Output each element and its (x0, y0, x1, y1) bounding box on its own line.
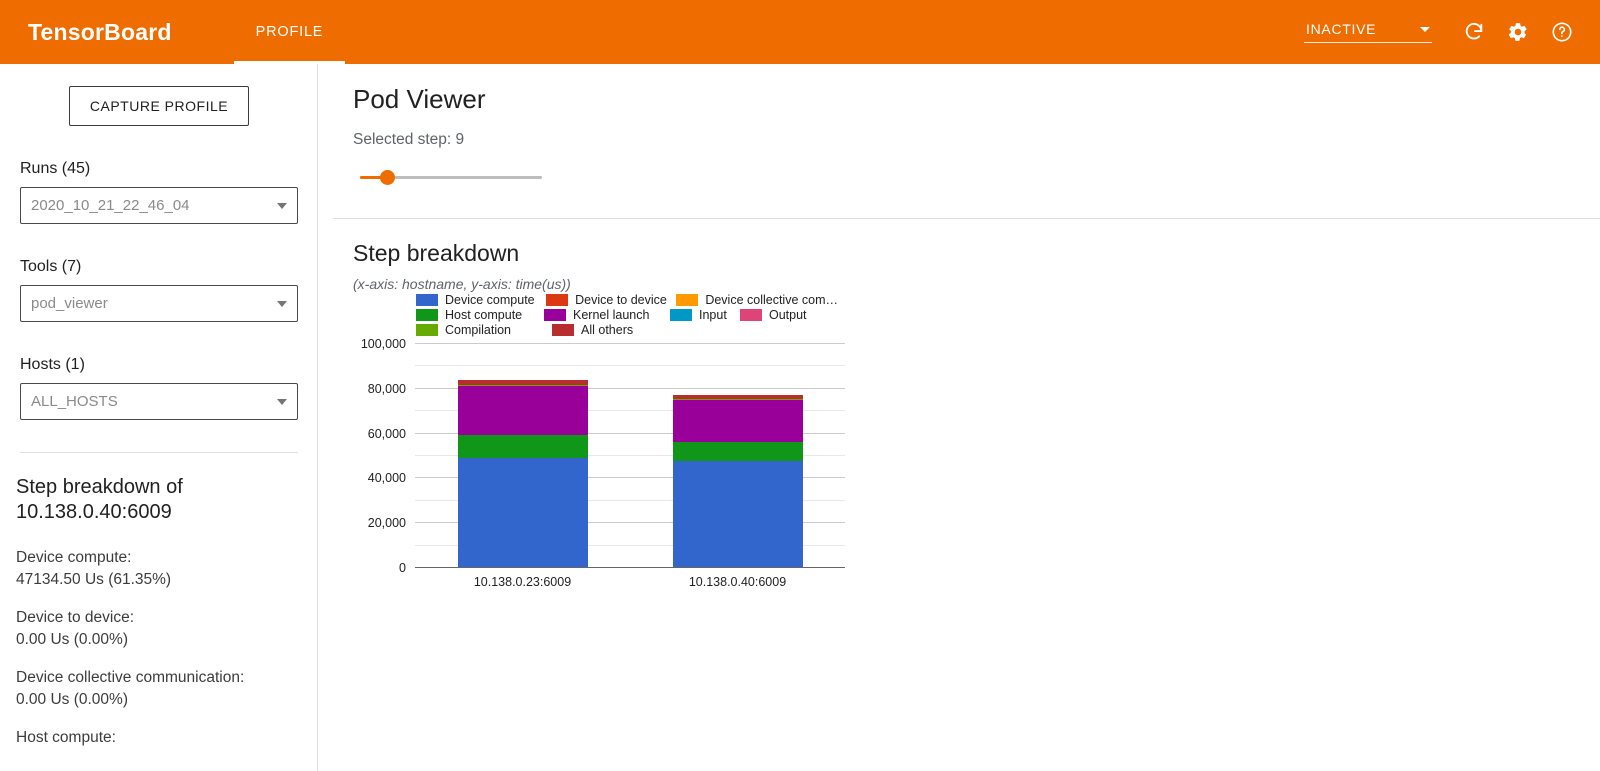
x-axis-line (415, 567, 845, 568)
legend-item[interactable]: Output (740, 308, 807, 322)
chart-bar[interactable] (458, 380, 588, 567)
gridline-minor (415, 365, 845, 366)
y-axis-tick-label: 0 (399, 561, 406, 575)
legend-label: All others (581, 323, 633, 337)
bar-segment[interactable] (458, 458, 588, 567)
step-breakdown-chart: Device computeDevice to deviceDevice col… (353, 292, 1053, 592)
chevron-down-icon (1420, 27, 1430, 32)
legend-swatch (416, 294, 438, 306)
legend-swatch (740, 309, 762, 321)
app-bar-actions: INACTIVE (1304, 12, 1582, 52)
x-axis-tick-label: 10.138.0.40:6009 (689, 575, 786, 589)
bar-segment[interactable] (458, 435, 588, 458)
help-button[interactable] (1542, 12, 1582, 52)
tools-label: Tools (7) (20, 258, 298, 276)
chart-title: Step breakdown (353, 240, 1600, 267)
reload-button[interactable] (1454, 12, 1494, 52)
legend-row: Device computeDevice to deviceDevice col… (416, 292, 846, 307)
runs-selected-value: 2020_10_21_22_46_04 (31, 197, 277, 214)
legend-swatch (544, 309, 566, 321)
hosts-selected-value: ALL_HOSTS (31, 393, 277, 410)
gear-icon (1507, 21, 1529, 43)
tab-profile-label: PROFILE (256, 24, 324, 40)
page-title: Pod Viewer (353, 84, 1600, 115)
hosts-select[interactable]: ALL_HOSTS (20, 383, 298, 420)
step-slider[interactable] (360, 167, 542, 187)
legend-label: Device collective com… (705, 293, 838, 307)
legend-swatch (670, 309, 692, 321)
legend-item[interactable]: Device compute (416, 293, 538, 307)
detail-row: Device collective communication: 0.00 Us… (16, 667, 302, 711)
app-logo: TensorBoard (28, 19, 172, 46)
sidebar: CAPTURE PROFILE Runs (45) 2020_10_21_22_… (0, 64, 318, 771)
legend-label: Compilation (445, 323, 511, 337)
runs-label: Runs (45) (20, 160, 298, 178)
detail-key: Host compute: (16, 727, 302, 749)
main-content: Pod Viewer Selected step: 9 Step breakdo… (333, 64, 1600, 771)
detail-key: Device collective communication: (16, 667, 302, 689)
selected-step-label: Selected step: 9 (353, 131, 1600, 149)
legend-swatch (552, 324, 574, 336)
y-axis-tick-label: 40,000 (368, 471, 406, 485)
y-axis-tick-label: 80,000 (368, 382, 406, 396)
legend-swatch (546, 294, 568, 306)
bar-segment[interactable] (673, 442, 803, 461)
tab-profile[interactable]: PROFILE (234, 0, 346, 64)
legend-item[interactable]: Input (670, 308, 732, 322)
chart-bar[interactable] (673, 395, 803, 567)
chevron-down-icon (277, 301, 287, 307)
legend-label: Device to device (575, 293, 667, 307)
legend-item[interactable]: Kernel launch (544, 308, 662, 322)
chevron-down-icon (277, 399, 287, 405)
step-breakdown-details: Step breakdown of 10.138.0.40:6009 Devic… (0, 453, 318, 749)
chart-subtitle: (x-axis: hostname, y-axis: time(us)) (353, 276, 1600, 292)
bar-segment[interactable] (673, 461, 803, 567)
detail-key: Device to device: (16, 607, 302, 629)
legend-item[interactable]: Device collective com… (676, 293, 838, 307)
legend-item[interactable]: Compilation (416, 323, 544, 337)
detail-value: 0.00 Us (0.00%) (16, 689, 302, 711)
content-divider (333, 218, 1600, 219)
hosts-label: Hosts (1) (20, 356, 298, 374)
reload-icon (1463, 21, 1485, 43)
nav-tabs: PROFILE (234, 0, 346, 64)
legend-label: Host compute (445, 308, 522, 322)
tools-select[interactable]: pod_viewer (20, 285, 298, 322)
legend-row: CompilationAll others (416, 322, 846, 337)
detail-value: 47134.50 Us (61.35%) (16, 569, 302, 591)
chart-legend: Device computeDevice to deviceDevice col… (416, 292, 846, 337)
legend-swatch (416, 324, 438, 336)
detail-row: Device compute: 47134.50 Us (61.35%) (16, 547, 302, 591)
y-axis-tick-label: 100,000 (361, 337, 406, 351)
app-bar: TensorBoard PROFILE INACTIVE (0, 0, 1600, 64)
chevron-down-icon (277, 203, 287, 209)
legend-swatch (416, 309, 438, 321)
x-axis-tick-label: 10.138.0.23:6009 (474, 575, 571, 589)
help-icon (1551, 21, 1573, 43)
detail-key: Device compute: (16, 547, 302, 569)
detail-row: Host compute: (16, 727, 302, 749)
legend-item[interactable]: Host compute (416, 308, 536, 322)
gridline-major (415, 343, 845, 344)
legend-item[interactable]: All others (552, 323, 633, 337)
bar-segment[interactable] (673, 400, 803, 442)
y-axis-tick-label: 20,000 (368, 516, 406, 530)
legend-label: Device compute (445, 293, 535, 307)
legend-row: Host computeKernel launchInputOutput (416, 307, 846, 322)
legend-item[interactable]: Device to device (546, 293, 668, 307)
status-dropdown[interactable]: INACTIVE (1304, 21, 1432, 43)
legend-label: Kernel launch (573, 308, 649, 322)
y-axis-tick-label: 60,000 (368, 427, 406, 441)
capture-profile-button[interactable]: CAPTURE PROFILE (69, 86, 249, 126)
legend-label: Output (769, 308, 807, 322)
slider-thumb[interactable] (380, 170, 395, 185)
legend-swatch (676, 294, 698, 306)
status-value: INACTIVE (1306, 21, 1408, 37)
legend-label: Input (699, 308, 727, 322)
bar-segment[interactable] (458, 386, 588, 435)
details-title: Step breakdown of 10.138.0.40:6009 (16, 475, 266, 525)
detail-value: 0.00 Us (0.00%) (16, 629, 302, 651)
sidebar-edge (317, 64, 318, 771)
chart-plot-area: 020,00040,00060,00080,000100,00010.138.0… (415, 343, 845, 568)
tools-selected-value: pod_viewer (31, 295, 277, 312)
detail-row: Device to device: 0.00 Us (0.00%) (16, 607, 302, 651)
runs-select[interactable]: 2020_10_21_22_46_04 (20, 187, 298, 224)
sidebar-controls: CAPTURE PROFILE Runs (45) 2020_10_21_22_… (0, 86, 318, 453)
settings-button[interactable] (1498, 12, 1538, 52)
